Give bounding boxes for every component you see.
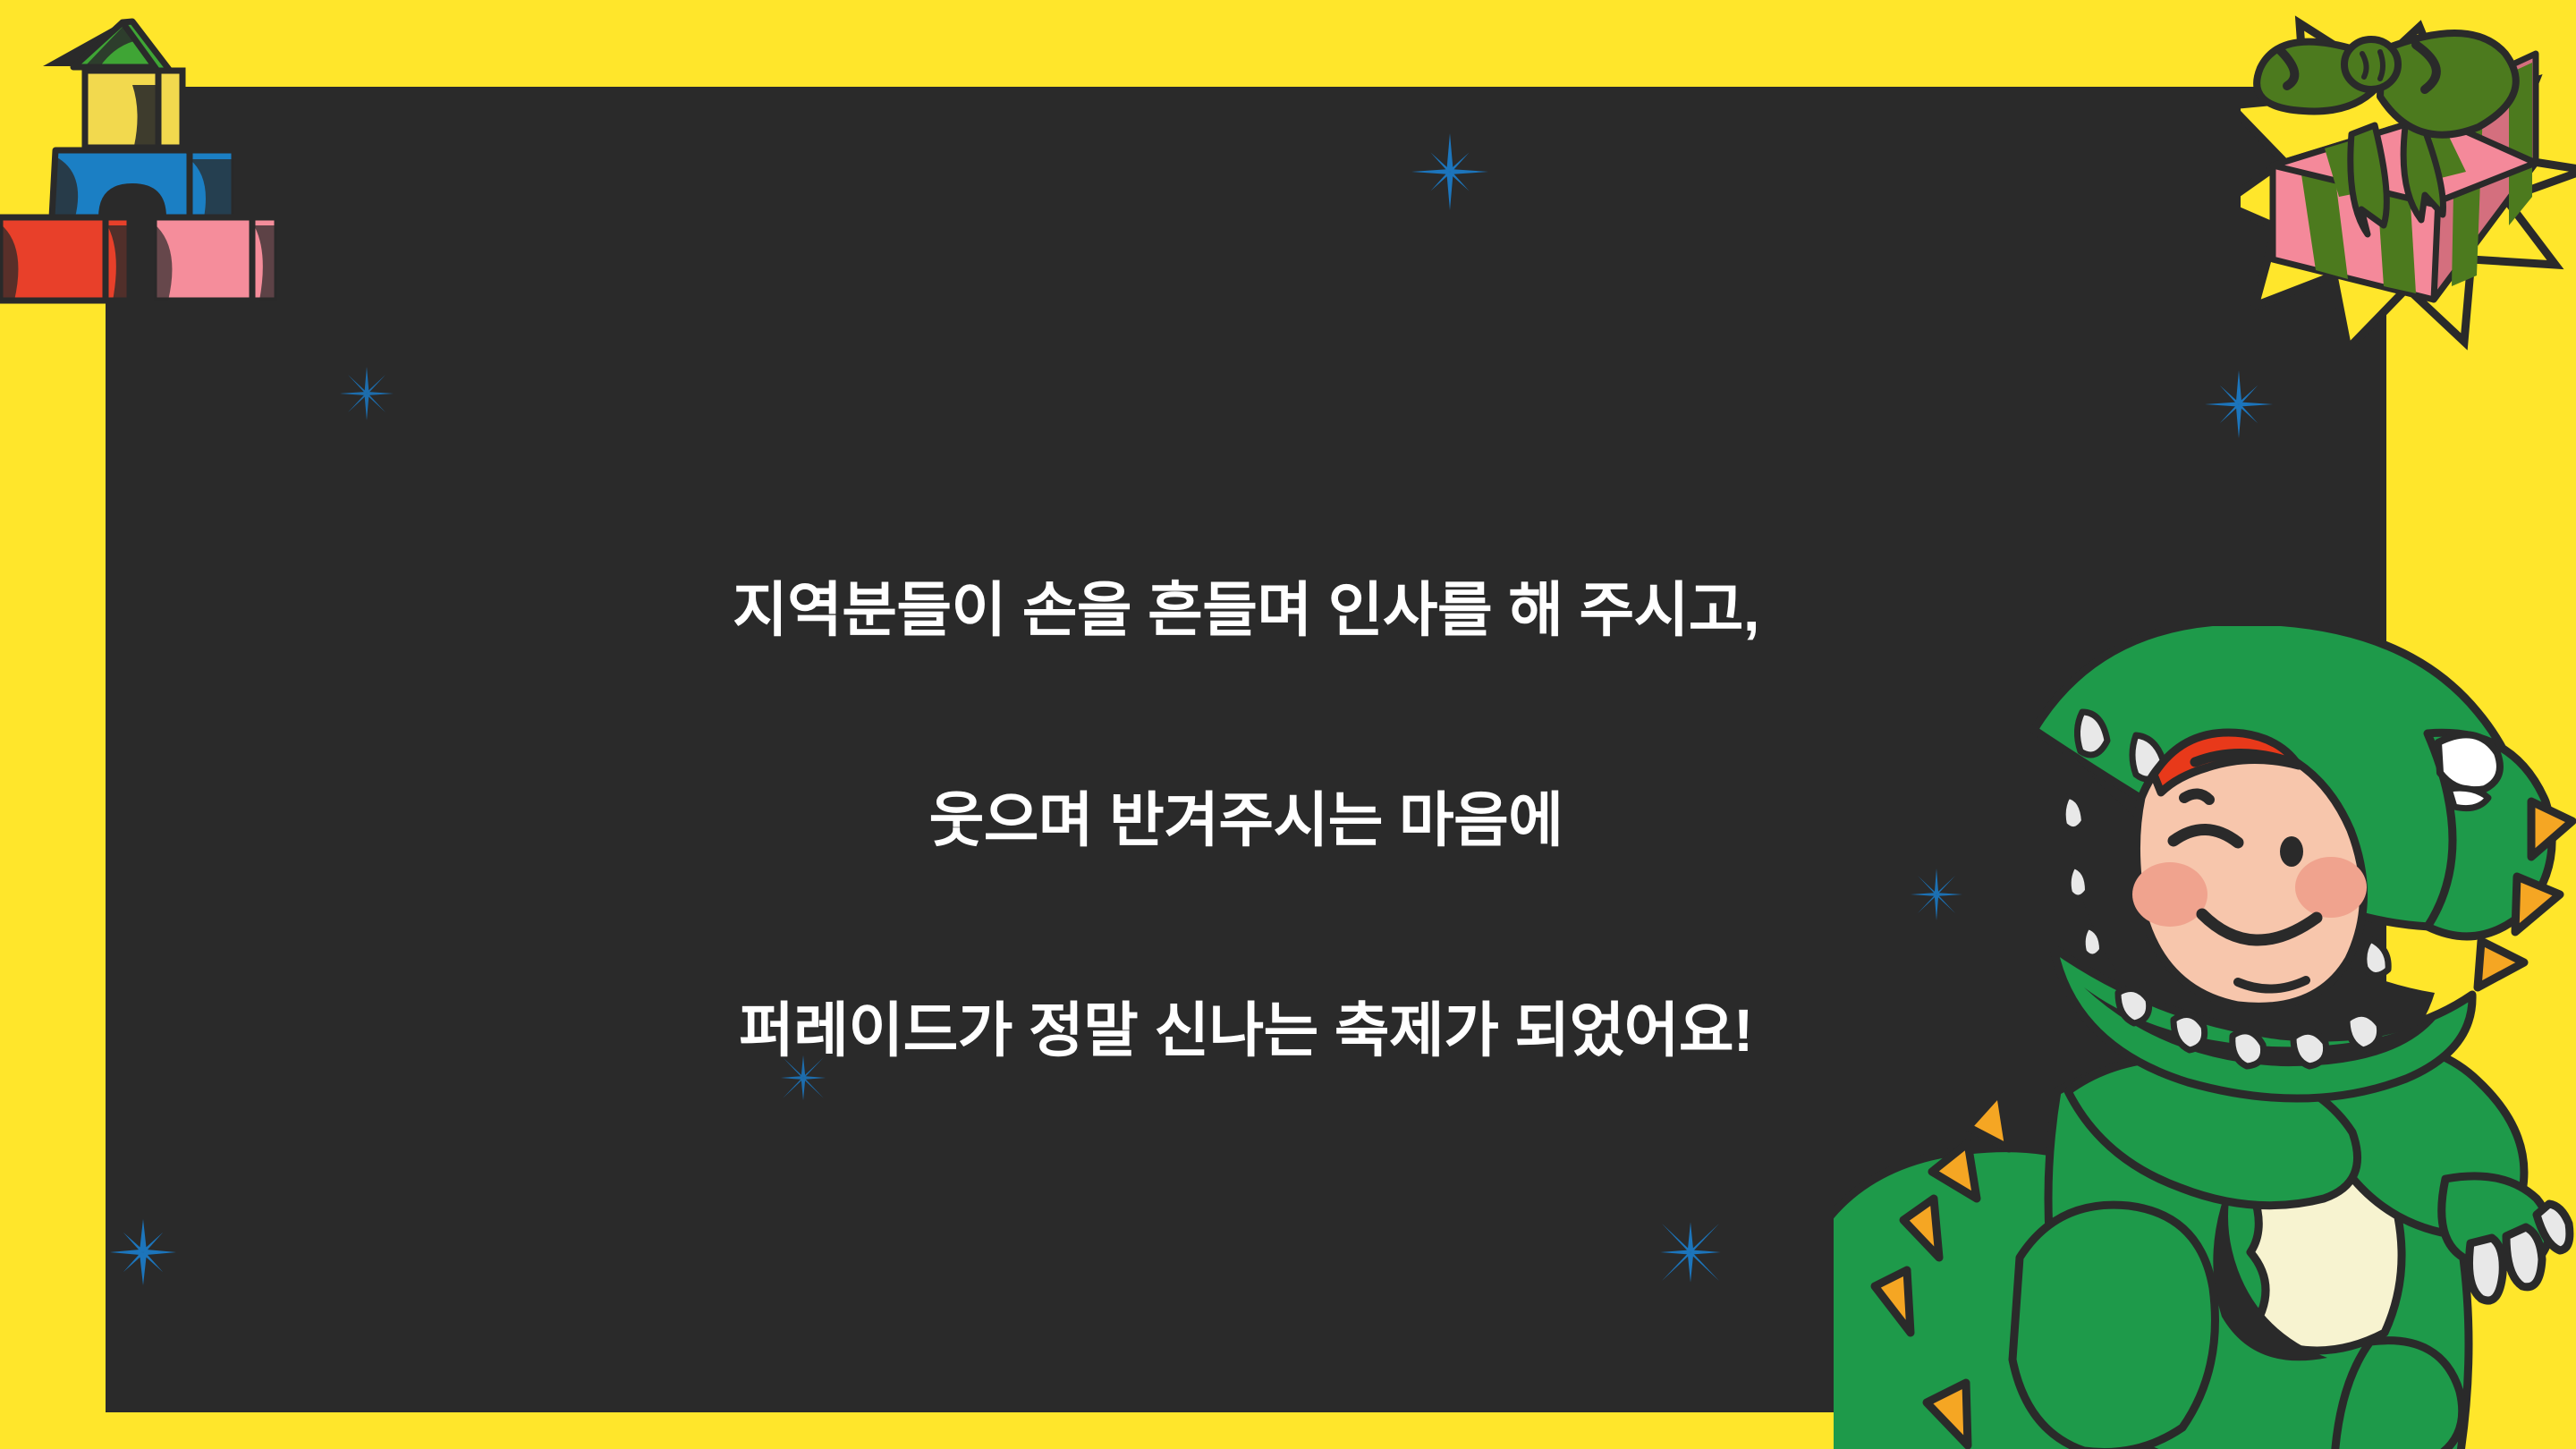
message-line-1: 지역분들이 손을 흔들며 인사를 해 주시고, [106, 576, 2386, 646]
paragraph-1: 지역분들이 손을 흔들며 인사를 해 주시고, 웃으며 반겨주시는 마음에 퍼레… [106, 436, 2386, 1207]
message-line-2: 웃으며 반겨주시는 마음에 [106, 786, 2386, 856]
paragraph-spacer [106, 1347, 2386, 1435]
message-line-3: 퍼레이드가 정말 신나는 축제가 되었어요! [106, 996, 2386, 1066]
slide-canvas: 지역분들이 손을 흔들며 인사를 해 주시고, 웃으며 반겨주시는 마음에 퍼레… [0, 0, 2576, 1449]
message-text-block: 지역분들이 손을 흔들며 인사를 해 주시고, 웃으며 반겨주시는 마음에 퍼레… [106, 295, 2386, 1449]
